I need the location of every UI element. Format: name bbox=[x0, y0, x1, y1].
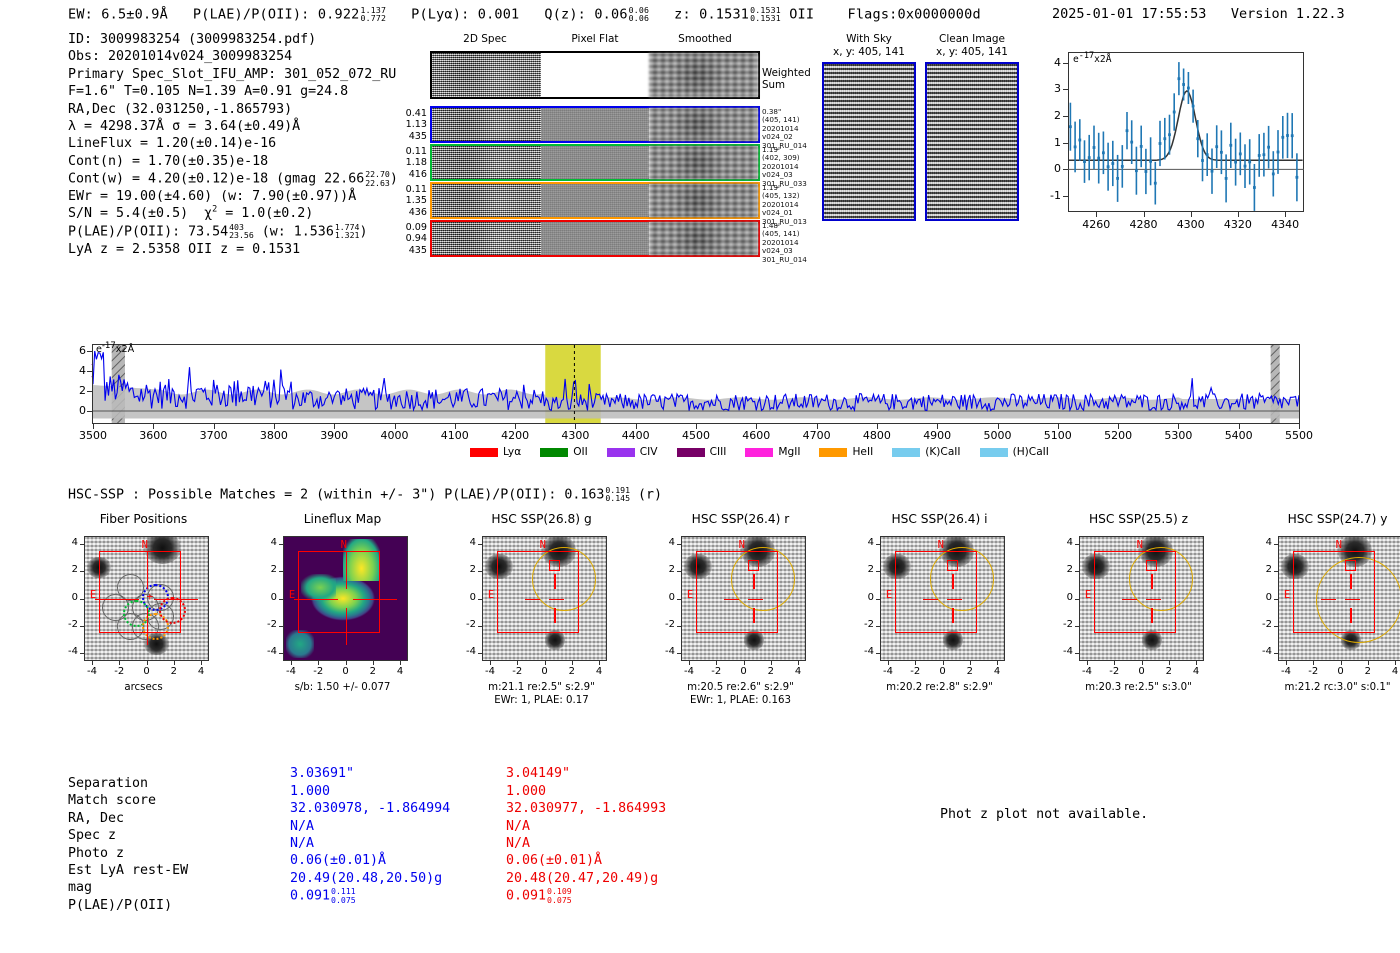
cutout-y-tick: -2 bbox=[458, 619, 476, 630]
match-value: 32.030978, -1.864994 bbox=[290, 800, 450, 817]
cutout-sub1: m:20.2 re:2.8" s:2.9" bbox=[850, 681, 1029, 694]
y-tick-label: 2 bbox=[1046, 109, 1061, 122]
info-cont-w: Cont(w) = 4.20(±0.12)e-18 (gmag 22.6622.… bbox=[68, 170, 398, 188]
cutout-title: HSC SSP(25.5) z bbox=[1057, 512, 1220, 526]
cutout-image[interactable]: NE bbox=[1079, 536, 1204, 661]
fiber-meta: 1.19"(405, 132)20201014v024_01301_RU_013 bbox=[762, 184, 807, 226]
cutout-panel[interactable]: HSC SSP(24.7) yNE420-2-4-4-2024m:21.2 rc… bbox=[1256, 512, 1400, 734]
match-label: Separation bbox=[68, 775, 148, 792]
x-tick-label: 4260 bbox=[1079, 218, 1113, 231]
cutout-x-tick: 4 bbox=[785, 666, 811, 677]
cutout-y-tick: 2 bbox=[657, 564, 675, 575]
plae-weighted-bounds: 1.7741.321 bbox=[335, 223, 360, 240]
cutout-sub1: m:20.5 re:2.6" s:2.9" bbox=[651, 681, 830, 694]
match-value: N/A bbox=[290, 818, 314, 835]
cutout-y-tick: 0 bbox=[856, 592, 874, 603]
cutout-panel[interactable]: Lineflux MapNE420-2-4-4-2024s/b: 1.50 +/… bbox=[261, 512, 424, 734]
cutout-panel[interactable]: HSC SSP(26.4) rNE420-2-4-4-2024m:20.5 re… bbox=[659, 512, 822, 734]
col-title-smoothed: Smoothed bbox=[650, 33, 760, 45]
header-z-species: OII bbox=[789, 6, 814, 22]
info-redshifts: LyA z = 2.5358 OII z = 0.1531 bbox=[68, 241, 398, 258]
with-sky-thumb[interactable]: With Sky x, y: 405, 141 bbox=[822, 33, 916, 221]
cutout-x-tick: -4 bbox=[278, 666, 304, 677]
cutout-sub1: m:20.3 re:2.5" s:3.0" bbox=[1049, 681, 1228, 694]
fiber-row[interactable]: 0.090.944351.48"(405, 141)20201014v024_0… bbox=[430, 220, 760, 257]
cutout-y-tick: 4 bbox=[458, 537, 476, 548]
version-label: Version 1.22.3 bbox=[1231, 6, 1345, 22]
header-timestamp-version: 2025-01-01 17:55:53 Version 1.22.3 bbox=[1052, 6, 1345, 22]
x-tick-label: 4100 bbox=[435, 429, 475, 442]
north-indicator: N bbox=[341, 539, 347, 551]
fiber-stats: 0.411.13435 bbox=[406, 108, 427, 142]
ifu-footprint-box bbox=[298, 551, 380, 633]
x-tick-label: 4600 bbox=[736, 429, 776, 442]
x-tick-label: 3900 bbox=[314, 429, 354, 442]
ifu-footprint-box bbox=[895, 551, 977, 633]
cutout-image[interactable]: NE bbox=[1278, 536, 1400, 661]
info-line: Obs: 20201014v024_3009983254 bbox=[68, 48, 398, 65]
match-label: Spec z bbox=[68, 827, 116, 844]
north-indicator: N bbox=[1137, 539, 1143, 551]
y-tick-label: 4 bbox=[1046, 56, 1061, 69]
legend-label: Lyα bbox=[503, 446, 521, 458]
cutout-y-tick: 0 bbox=[259, 592, 277, 603]
fiber-rows: 0.411.134350.38"(405, 141)20201014v024_0… bbox=[430, 106, 760, 257]
legend-label: OII bbox=[573, 446, 588, 458]
cutout-title: HSC SSP(26.4) i bbox=[858, 512, 1021, 526]
x-tick-label: 5500 bbox=[1279, 429, 1319, 442]
x-tick-label: 4500 bbox=[676, 429, 716, 442]
x-tick-label: 3800 bbox=[254, 429, 294, 442]
match-plae-bounds: 0.1090.075 bbox=[547, 887, 572, 904]
fiber-stat-value: 436 bbox=[406, 207, 427, 218]
match-table: SeparationMatch scoreRA, DecSpec zPhoto … bbox=[68, 775, 828, 925]
cutout-x-tick: -4 bbox=[1074, 666, 1100, 677]
cutout-x-tick: 2 bbox=[1156, 666, 1182, 677]
cutout-y-tick: -4 bbox=[856, 646, 874, 657]
cutout-x-tick: 2 bbox=[957, 666, 983, 677]
weighted-sum-label: Weighted Sum bbox=[762, 67, 811, 91]
y-tick-label: 2 bbox=[72, 384, 86, 397]
cutout-x-tick: 2 bbox=[161, 666, 187, 677]
match-label: Photo z bbox=[68, 845, 124, 862]
ifu-footprint-box bbox=[1094, 551, 1176, 633]
cutout-x-tick: -4 bbox=[477, 666, 503, 677]
cutout-x-tick: 4 bbox=[387, 666, 413, 677]
cutout-y-tick: -4 bbox=[657, 646, 675, 657]
with-sky-title: With Sky bbox=[822, 33, 916, 46]
2d-spectrum-panel: 2D Spec Pixel Flat Smoothed Weighted Sum… bbox=[430, 33, 760, 257]
legend-item: HeII bbox=[819, 446, 873, 458]
info-line: λ = 4298.37Å σ = 3.64(±0.49)Å bbox=[68, 118, 398, 135]
cutout-y-tick: 0 bbox=[1254, 592, 1272, 603]
y-tick-label: 3 bbox=[1046, 82, 1061, 95]
fiber-meta-value: 301_RU_014 bbox=[762, 256, 807, 264]
cutout-panel[interactable]: HSC SSP(25.5) zNE420-2-4-4-2024m:20.3 re… bbox=[1057, 512, 1220, 734]
photz-note: Phot z plot not available. bbox=[940, 807, 1148, 822]
legend-swatch bbox=[677, 448, 705, 457]
cutout-image[interactable]: NE bbox=[482, 536, 607, 661]
cutout-y-tick: 4 bbox=[60, 537, 78, 548]
east-indicator: E bbox=[488, 589, 494, 601]
cutout-y-tick: 4 bbox=[1254, 537, 1272, 548]
x-tick-label: 3700 bbox=[194, 429, 234, 442]
cutout-x-tick: -2 bbox=[1101, 666, 1127, 677]
cutout-y-tick: 2 bbox=[856, 564, 874, 575]
with-sky-image bbox=[822, 62, 916, 221]
cutout-y-tick: -4 bbox=[259, 646, 277, 657]
hsc-headline: HSC-SSP : Possible Matches = 2 (within +… bbox=[68, 486, 662, 503]
fiber-stat-value: 416 bbox=[406, 169, 427, 180]
cutout-panel[interactable]: HSC SSP(26.8) gNE420-2-4-4-2024m:21.1 re… bbox=[460, 512, 623, 734]
east-indicator: E bbox=[687, 589, 693, 601]
cutout-y-tick: 0 bbox=[1055, 592, 1073, 603]
north-indicator: N bbox=[739, 539, 745, 551]
fiber-row[interactable]: 0.111.184161.19"(402, 309)20201014v024_0… bbox=[430, 144, 760, 181]
cutout-x-tick: 0 bbox=[532, 666, 558, 677]
fiber-stat-value: 0.09 bbox=[406, 222, 427, 233]
legend-swatch bbox=[607, 448, 635, 457]
legend-label: (H)CaII bbox=[1013, 446, 1049, 458]
ifu-footprint-box bbox=[497, 551, 579, 633]
x-tick-label: 5400 bbox=[1219, 429, 1259, 442]
cutout-y-tick: -2 bbox=[1254, 619, 1272, 630]
cutout-y-tick: 0 bbox=[60, 592, 78, 603]
detection-info-block: ID: 3009983254 (3009983254.pdf) Obs: 202… bbox=[68, 31, 398, 258]
cutout-y-tick: 0 bbox=[458, 592, 476, 603]
y-tick-label: -1 bbox=[1046, 189, 1061, 202]
legend-swatch bbox=[540, 448, 568, 457]
cutout-title: Fiber Positions bbox=[62, 512, 225, 526]
full-spectrum-plot: SiII (CII (SiIV )OVI (HeII (SiIV (OII (C… bbox=[92, 282, 1300, 442]
cutout-x-tick: 0 bbox=[134, 666, 160, 677]
fiber-stat-value: 0.11 bbox=[406, 184, 427, 195]
spectrum-flux-unit: e-17x2Å bbox=[96, 344, 134, 355]
header-summary-line: EW: 6.5±0.9Å P(LAE)/P(OII): 0.9221.1370.… bbox=[68, 6, 981, 23]
cutout-y-tick: -2 bbox=[657, 619, 675, 630]
header-qz-bounds: 0.060.06 bbox=[629, 6, 650, 23]
cutout-x-tick: -2 bbox=[703, 666, 729, 677]
match-value: N/A bbox=[506, 818, 530, 835]
east-indicator: E bbox=[886, 589, 892, 601]
x-tick-label: 5100 bbox=[1038, 429, 1078, 442]
gmag-bounds: 22.7022.63 bbox=[365, 170, 390, 187]
cutout-x-tick: 4 bbox=[188, 666, 214, 677]
fiber-stats: 0.111.18416 bbox=[406, 146, 427, 180]
fiber-stat-value: 1.18 bbox=[406, 157, 427, 168]
cutout-y-tick: 2 bbox=[60, 564, 78, 575]
info-line: Primary Spec_Slot_IFU_AMP: 301_052_072_R… bbox=[68, 66, 398, 83]
cutout-xlabel: arcsecs bbox=[62, 681, 225, 694]
cutout-title: HSC SSP(24.7) y bbox=[1256, 512, 1400, 526]
cutout-x-tick: -4 bbox=[79, 666, 105, 677]
cutout-x-tick: -2 bbox=[305, 666, 331, 677]
header-plae-value: 0.922 bbox=[318, 6, 360, 22]
fiber-stat-value: 1.13 bbox=[406, 119, 427, 130]
fiber-stats: 0.111.35436 bbox=[406, 184, 427, 218]
cutout-x-tick: -2 bbox=[1300, 666, 1326, 677]
cutout-y-tick: -4 bbox=[1055, 646, 1073, 657]
legend-item: (K)CaII bbox=[892, 446, 960, 458]
legend-item: OII bbox=[540, 446, 588, 458]
legend-item: (H)CaII bbox=[980, 446, 1049, 458]
ifu-footprint-box bbox=[1293, 551, 1375, 633]
cutout-x-tick: 2 bbox=[758, 666, 784, 677]
cutout-y-tick: 4 bbox=[657, 537, 675, 548]
cutout-x-tick: 0 bbox=[333, 666, 359, 677]
cutout-x-tick: 4 bbox=[586, 666, 612, 677]
info-line: ID: 3009983254 (3009983254.pdf) bbox=[68, 31, 398, 48]
cutout-panel[interactable]: HSC SSP(26.4) iNE420-2-4-4-2024m:20.2 re… bbox=[858, 512, 1021, 734]
x-tick-label: 4340 bbox=[1268, 218, 1302, 231]
header-qz-label: Q(z): 0.06 bbox=[544, 6, 627, 22]
legend-swatch bbox=[745, 448, 773, 457]
x-tick-label: 3500 bbox=[73, 429, 113, 442]
x-tick-label: 5300 bbox=[1158, 429, 1198, 442]
match-value: N/A bbox=[506, 835, 530, 852]
cutout-sub2: EWr: 1, PLAE: 0.17 bbox=[452, 694, 631, 707]
ifu-footprint-box bbox=[696, 551, 778, 633]
cutout-y-tick: 0 bbox=[657, 592, 675, 603]
cutout-x-tick: 2 bbox=[360, 666, 386, 677]
header-z-bounds: 0.15310.1531 bbox=[750, 6, 781, 23]
x-tick-label: 3600 bbox=[133, 429, 173, 442]
x-tick-label: 4300 bbox=[555, 429, 595, 442]
cutout-sub2: EWr: 1, PLAE: 0.163 bbox=[651, 694, 830, 707]
x-tick-label: 4200 bbox=[495, 429, 535, 442]
cutout-x-tick: 2 bbox=[1355, 666, 1381, 677]
north-indicator: N bbox=[142, 539, 148, 551]
match-value: 20.49(20.48,20.50)g bbox=[290, 870, 442, 887]
fiber-stat-value: 435 bbox=[406, 245, 427, 256]
x-tick-label: 4320 bbox=[1221, 218, 1255, 231]
east-indicator: E bbox=[1085, 589, 1091, 601]
cutout-y-tick: -4 bbox=[60, 646, 78, 657]
fiber-stat-value: 435 bbox=[406, 131, 427, 142]
cutout-image[interactable]: NE bbox=[283, 536, 408, 661]
clean-image-coords: x, y: 405, 141 bbox=[925, 46, 1019, 59]
legend-swatch bbox=[892, 448, 920, 457]
cutout-y-tick: -4 bbox=[1254, 646, 1272, 657]
x-tick-label: 4700 bbox=[797, 429, 837, 442]
fiber-row[interactable]: 0.411.134350.38"(405, 141)20201014v024_0… bbox=[430, 106, 760, 143]
match-label: Est LyA rest-EW bbox=[68, 862, 188, 879]
legend-label: CIII bbox=[710, 446, 727, 458]
x-tick-label: 5200 bbox=[1098, 429, 1138, 442]
info-ewr: EWr = 19.00(±4.60) (w: 7.90(±0.97))Å bbox=[68, 188, 398, 205]
y-tick-label: 0 bbox=[72, 404, 86, 417]
info-snr-chi2: S/N = 5.4(±0.5) χ2 = 1.0(±0.2) bbox=[68, 205, 398, 222]
match-value: 0.06(±0.01)Å bbox=[506, 852, 602, 869]
match-value: 1.000 bbox=[506, 783, 546, 800]
fiber-stat-value: 0.94 bbox=[406, 233, 427, 244]
match-value: 0.0910.1090.075 bbox=[506, 887, 572, 905]
cutout-x-tick: 2 bbox=[559, 666, 585, 677]
cutout-image[interactable]: NE bbox=[681, 536, 806, 661]
cutout-x-tick: 0 bbox=[731, 666, 757, 677]
spectrum-legend: LyαOIICIVCIIIMgIIHeII(K)CaII(H)CaII bbox=[470, 446, 1059, 458]
info-line: LineFlux = 1.20(±0.14)e-16 bbox=[68, 135, 398, 152]
y-tick-label: 1 bbox=[1046, 136, 1061, 149]
col-title-pixelflat: Pixel Flat bbox=[540, 33, 650, 45]
match-value: 0.06(±0.01)Å bbox=[290, 852, 386, 869]
fiber-stat-value: 0.41 bbox=[406, 108, 427, 119]
cutout-sub1: s/b: 1.50 +/- 0.077 bbox=[253, 681, 432, 694]
cutout-x-tick: 4 bbox=[1183, 666, 1209, 677]
header-ew: EW: 6.5±0.9Å bbox=[68, 6, 168, 22]
match-value: 3.04149" bbox=[506, 765, 570, 782]
cutout-x-tick: 4 bbox=[984, 666, 1010, 677]
legend-label: CIV bbox=[640, 446, 658, 458]
fiber-stats: 0.090.94435 bbox=[406, 222, 427, 256]
info-plae-ratio: P(LAE)/P(OII): 73.5440323.56 (w: 1.5361.… bbox=[68, 223, 398, 241]
x-tick-label: 4800 bbox=[857, 429, 897, 442]
cutout-x-tick: 0 bbox=[1328, 666, 1354, 677]
x-tick-label: 5000 bbox=[978, 429, 1018, 442]
cutout-x-tick: 0 bbox=[930, 666, 956, 677]
match-label: Match score bbox=[68, 792, 156, 809]
legend-label: MgII bbox=[778, 446, 800, 458]
match-value: 3.03691" bbox=[290, 765, 354, 782]
north-indicator: N bbox=[540, 539, 546, 551]
cutout-y-tick: 4 bbox=[1055, 537, 1073, 548]
cutout-x-tick: -4 bbox=[676, 666, 702, 677]
legend-item: Lyα bbox=[470, 446, 521, 458]
x-tick-label: 4400 bbox=[616, 429, 656, 442]
legend-item: CIII bbox=[677, 446, 727, 458]
header-z-label: z: 0.1531 bbox=[674, 6, 749, 22]
legend-swatch bbox=[980, 448, 1008, 457]
cutout-y-tick: -2 bbox=[60, 619, 78, 630]
timestamp: 2025-01-01 17:55:53 bbox=[1052, 6, 1206, 22]
cutout-y-tick: -2 bbox=[856, 619, 874, 630]
match-value: 20.48(20.47,20.49)g bbox=[506, 870, 658, 887]
cutout-title: HSC SSP(26.8) g bbox=[460, 512, 623, 526]
cutout-title: Lineflux Map bbox=[261, 512, 424, 526]
cutout-x-tick: -4 bbox=[1273, 666, 1299, 677]
info-line: Cont(n) = 1.70(±0.35)e-18 bbox=[68, 153, 398, 170]
legend-swatch bbox=[470, 448, 498, 457]
legend-item: CIV bbox=[607, 446, 658, 458]
cutout-title: HSC SSP(26.4) r bbox=[659, 512, 822, 526]
emission-line-zoom-plot: e-17x2Å -101234 42604280430043204340 bbox=[1040, 48, 1304, 236]
match-value: N/A bbox=[290, 835, 314, 852]
x-tick-label: 4900 bbox=[917, 429, 957, 442]
cutout-x-tick: -2 bbox=[504, 666, 530, 677]
info-line: RA,Dec (32.031250,-1.865793) bbox=[68, 101, 398, 118]
header-flags: Flags:0x0000000d bbox=[848, 6, 981, 22]
legend-label: HeII bbox=[852, 446, 873, 458]
cutout-y-tick: -4 bbox=[458, 646, 476, 657]
east-indicator: E bbox=[1284, 589, 1290, 601]
x-tick-label: 4300 bbox=[1174, 218, 1208, 231]
cutout-y-tick: 2 bbox=[1254, 564, 1272, 575]
north-indicator: N bbox=[1336, 539, 1342, 551]
weighted-sum-row: Weighted Sum bbox=[430, 51, 760, 99]
col-title-2dspec: 2D Spec bbox=[430, 33, 540, 45]
fiber-row[interactable]: 0.111.354361.19"(405, 132)20201014v024_0… bbox=[430, 182, 760, 219]
cutout-y-tick: 2 bbox=[1055, 564, 1073, 575]
cutout-y-tick: -2 bbox=[259, 619, 277, 630]
match-plae-bounds: 0.1110.075 bbox=[331, 887, 356, 904]
header-plae-label: P(LAE)/P(OII): bbox=[193, 6, 310, 22]
y-tick-label: 6 bbox=[72, 344, 86, 357]
y-tick-label: 4 bbox=[72, 364, 86, 377]
cutout-y-tick: 4 bbox=[856, 537, 874, 548]
cutout-panel[interactable]: Fiber Positions+NE420-2-4-4-2024arcsecs bbox=[62, 512, 225, 734]
legend-label: (K)CaII bbox=[925, 446, 960, 458]
fiber-stat-value: 1.35 bbox=[406, 195, 427, 206]
cutout-x-tick: 4 bbox=[1382, 666, 1400, 677]
fiber-meta: 1.48"(405, 141)20201014v024_03301_RU_014 bbox=[762, 222, 807, 264]
with-sky-coords: x, y: 405, 141 bbox=[822, 46, 916, 59]
x-tick-label: 4280 bbox=[1127, 218, 1161, 231]
match-label: RA, Dec bbox=[68, 810, 124, 827]
match-value: 32.030977, -1.864993 bbox=[506, 800, 666, 817]
header-plya: P(Lyα): 0.001 bbox=[411, 6, 519, 22]
cutout-x-tick: -2 bbox=[902, 666, 928, 677]
clean-image-title: Clean Image bbox=[925, 33, 1019, 46]
match-label: P(LAE)/P(OII) bbox=[68, 897, 172, 914]
cutout-y-tick: -2 bbox=[1055, 619, 1073, 630]
clean-image-image bbox=[925, 62, 1019, 221]
north-indicator: N bbox=[938, 539, 944, 551]
plae-ratio-bounds: 40323.56 bbox=[229, 223, 254, 240]
clean-image-thumb[interactable]: Clean Image x, y: 405, 141 bbox=[925, 33, 1019, 221]
cutout-sub1: m:21.2 rc:3.0" s:0.1" bbox=[1248, 681, 1400, 694]
cutout-row: Fiber Positions+NE420-2-4-4-2024arcsecsL… bbox=[0, 512, 1400, 737]
legend-item: MgII bbox=[745, 446, 800, 458]
match-value: 1.000 bbox=[290, 783, 330, 800]
ifu-footprint-box bbox=[99, 551, 181, 633]
cutout-x-tick: -4 bbox=[875, 666, 901, 677]
cutout-image[interactable]: +NE bbox=[84, 536, 209, 661]
match-label: mag bbox=[68, 879, 92, 896]
match-value: 0.0910.1110.075 bbox=[290, 887, 356, 905]
cutout-y-tick: 2 bbox=[259, 564, 277, 575]
hsc-plae-bounds: 0.1910.145 bbox=[605, 486, 630, 503]
fiber-meta: 0.38"(405, 141)20201014v024_02301_RU_014 bbox=[762, 108, 807, 150]
zoomplot-flux-unit: e-17x2Å bbox=[1073, 54, 1111, 65]
info-line: F=1.6" T=0.105 N=1.39 A=0.91 g=24.8 bbox=[68, 83, 398, 100]
cutout-y-tick: 4 bbox=[259, 537, 277, 548]
cutout-y-tick: 2 bbox=[458, 564, 476, 575]
x-tick-label: 4000 bbox=[375, 429, 415, 442]
header-plae-bounds: 1.1370.772 bbox=[360, 6, 386, 23]
y-tick-label: 0 bbox=[1046, 162, 1061, 175]
cutout-x-tick: 0 bbox=[1129, 666, 1155, 677]
legend-swatch bbox=[819, 448, 847, 457]
fiber-stat-value: 0.11 bbox=[406, 146, 427, 157]
fiber-meta: 1.19"(402, 309)20201014v024_03301_RU_033 bbox=[762, 146, 807, 188]
cutout-x-tick: -2 bbox=[106, 666, 132, 677]
cutout-sub1: m:21.1 re:2.5" s:2.9" bbox=[452, 681, 631, 694]
cutout-image[interactable]: NE bbox=[880, 536, 1005, 661]
